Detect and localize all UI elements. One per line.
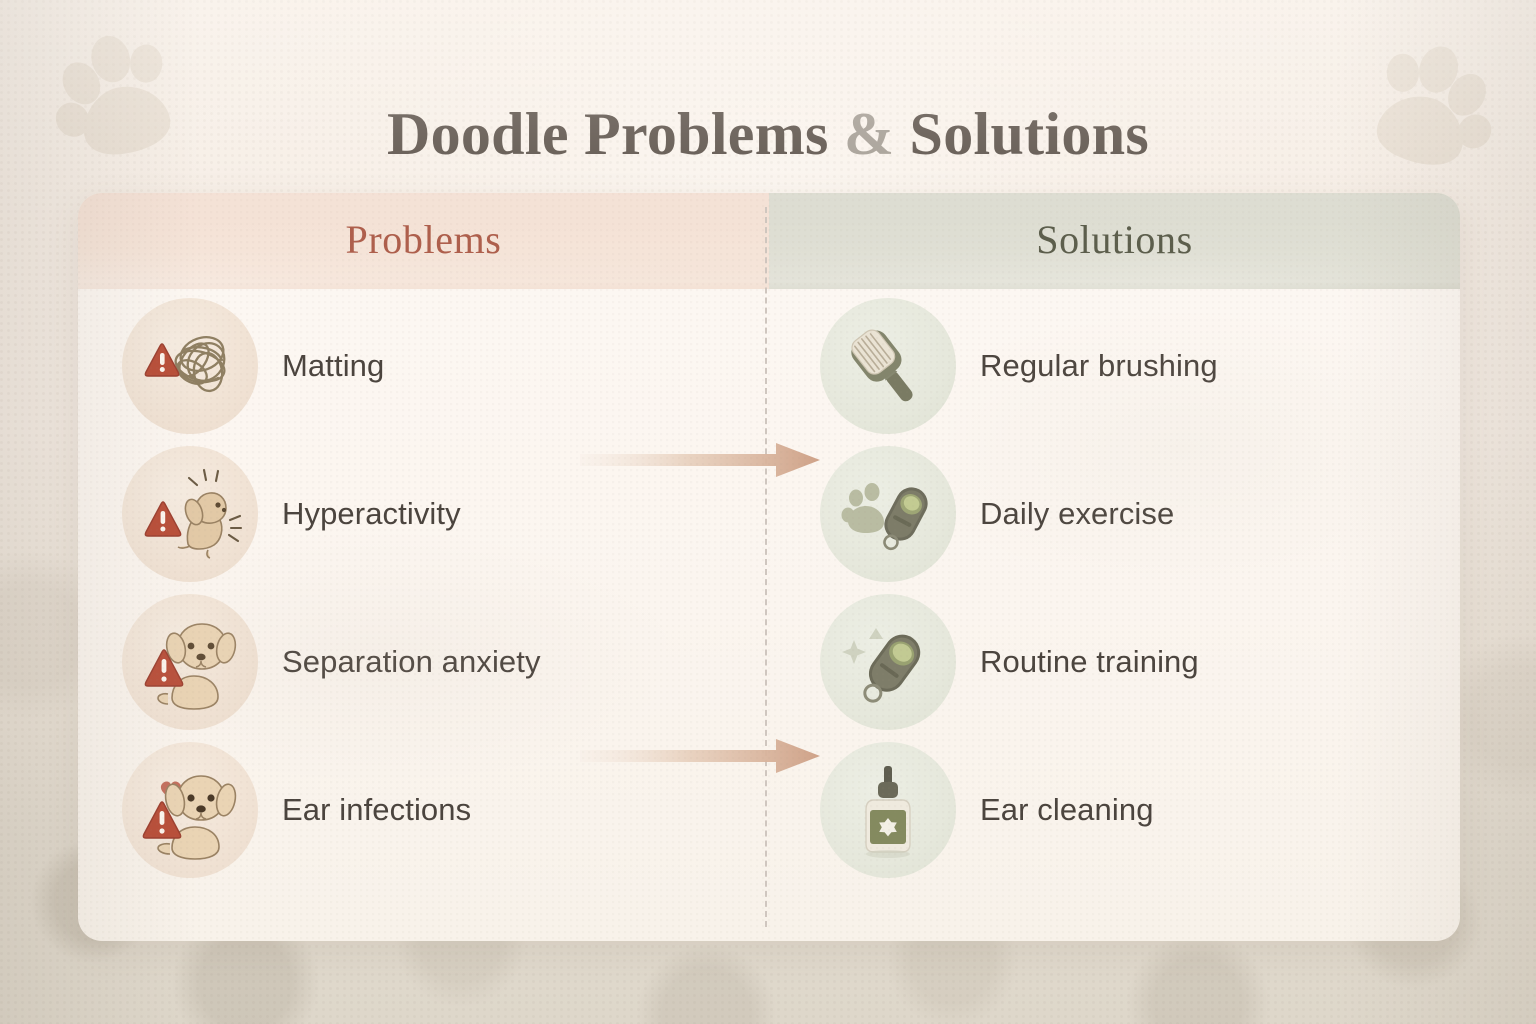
- table-row: Ear infections: [78, 735, 1460, 885]
- problem-item[interactable]: Separation anxiety: [122, 594, 592, 730]
- solution-item[interactable]: Routine training: [820, 594, 1380, 730]
- problems-heading: Problems: [346, 220, 502, 260]
- problems-header-band: Problems: [78, 193, 769, 289]
- problem-label: Separation anxiety: [282, 643, 541, 681]
- solution-label: Daily exercise: [980, 495, 1174, 533]
- page-title-ampersand: &: [829, 101, 910, 167]
- table-row: Matting: [78, 291, 1460, 441]
- paw-clicker-icon: [820, 446, 956, 582]
- solution-item[interactable]: Daily exercise: [820, 446, 1380, 582]
- page-title: Doodle Problems & Solutions: [0, 100, 1536, 169]
- page-title-part1: Doodle Problems: [387, 101, 829, 167]
- problem-item[interactable]: Matting: [122, 298, 592, 434]
- tangled-fur-icon: [122, 298, 258, 434]
- solution-label: Regular brushing: [980, 347, 1218, 385]
- problem-item[interactable]: Hyperactivity: [122, 446, 592, 582]
- bouncing-dog-icon: [122, 446, 258, 582]
- solution-label: Ear cleaning: [980, 791, 1154, 829]
- sitting-dog-icon: [122, 594, 258, 730]
- problem-label: Hyperactivity: [282, 495, 461, 533]
- clicker-sparkle-icon: [820, 594, 956, 730]
- solution-item[interactable]: Regular brushing: [820, 298, 1380, 434]
- page-title-part2: Solutions: [910, 101, 1149, 167]
- dog-with-heart-icon: [122, 742, 258, 878]
- hairbrush-icon: [820, 298, 956, 434]
- rows-container: Matting: [78, 289, 1460, 941]
- problem-label: Ear infections: [282, 791, 471, 829]
- problem-label: Matting: [282, 347, 384, 385]
- solutions-header-band: Solutions: [769, 193, 1460, 289]
- solutions-heading: Solutions: [1036, 220, 1193, 260]
- table-row: Hyperactivity: [78, 439, 1460, 589]
- table-row: Separation anxiety: [78, 587, 1460, 737]
- problem-item[interactable]: Ear infections: [122, 742, 592, 878]
- solution-item[interactable]: Ear cleaning: [820, 742, 1380, 878]
- dropper-bottle-icon: [820, 742, 956, 878]
- column-headers: Problems Solutions: [78, 193, 1460, 289]
- solution-label: Routine training: [980, 643, 1199, 681]
- poster-canvas: Doodle Problems & Solutions Problems Sol…: [0, 0, 1536, 1024]
- comparison-card: Problems Solutions: [78, 193, 1460, 941]
